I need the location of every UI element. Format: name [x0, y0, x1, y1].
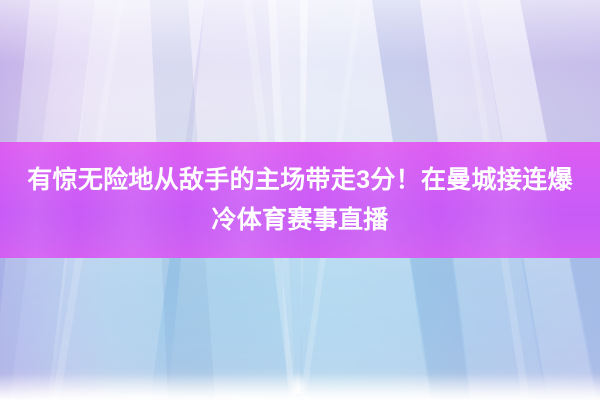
- caption-line-1: 有惊无险地从敌手的主场带走3分！在曼城接连爆: [27, 160, 573, 200]
- caption-line-2: 冷体育赛事直播: [211, 200, 388, 240]
- banner-image: 有惊无险地从敌手的主场带走3分！在曼城接连爆 冷体育赛事直播: [0, 0, 600, 400]
- caption-band: 有惊无险地从敌手的主场带走3分！在曼城接连爆 冷体育赛事直播: [0, 142, 600, 258]
- caption-text-block: 有惊无险地从敌手的主场带走3分！在曼城接连爆 冷体育赛事直播: [0, 142, 600, 258]
